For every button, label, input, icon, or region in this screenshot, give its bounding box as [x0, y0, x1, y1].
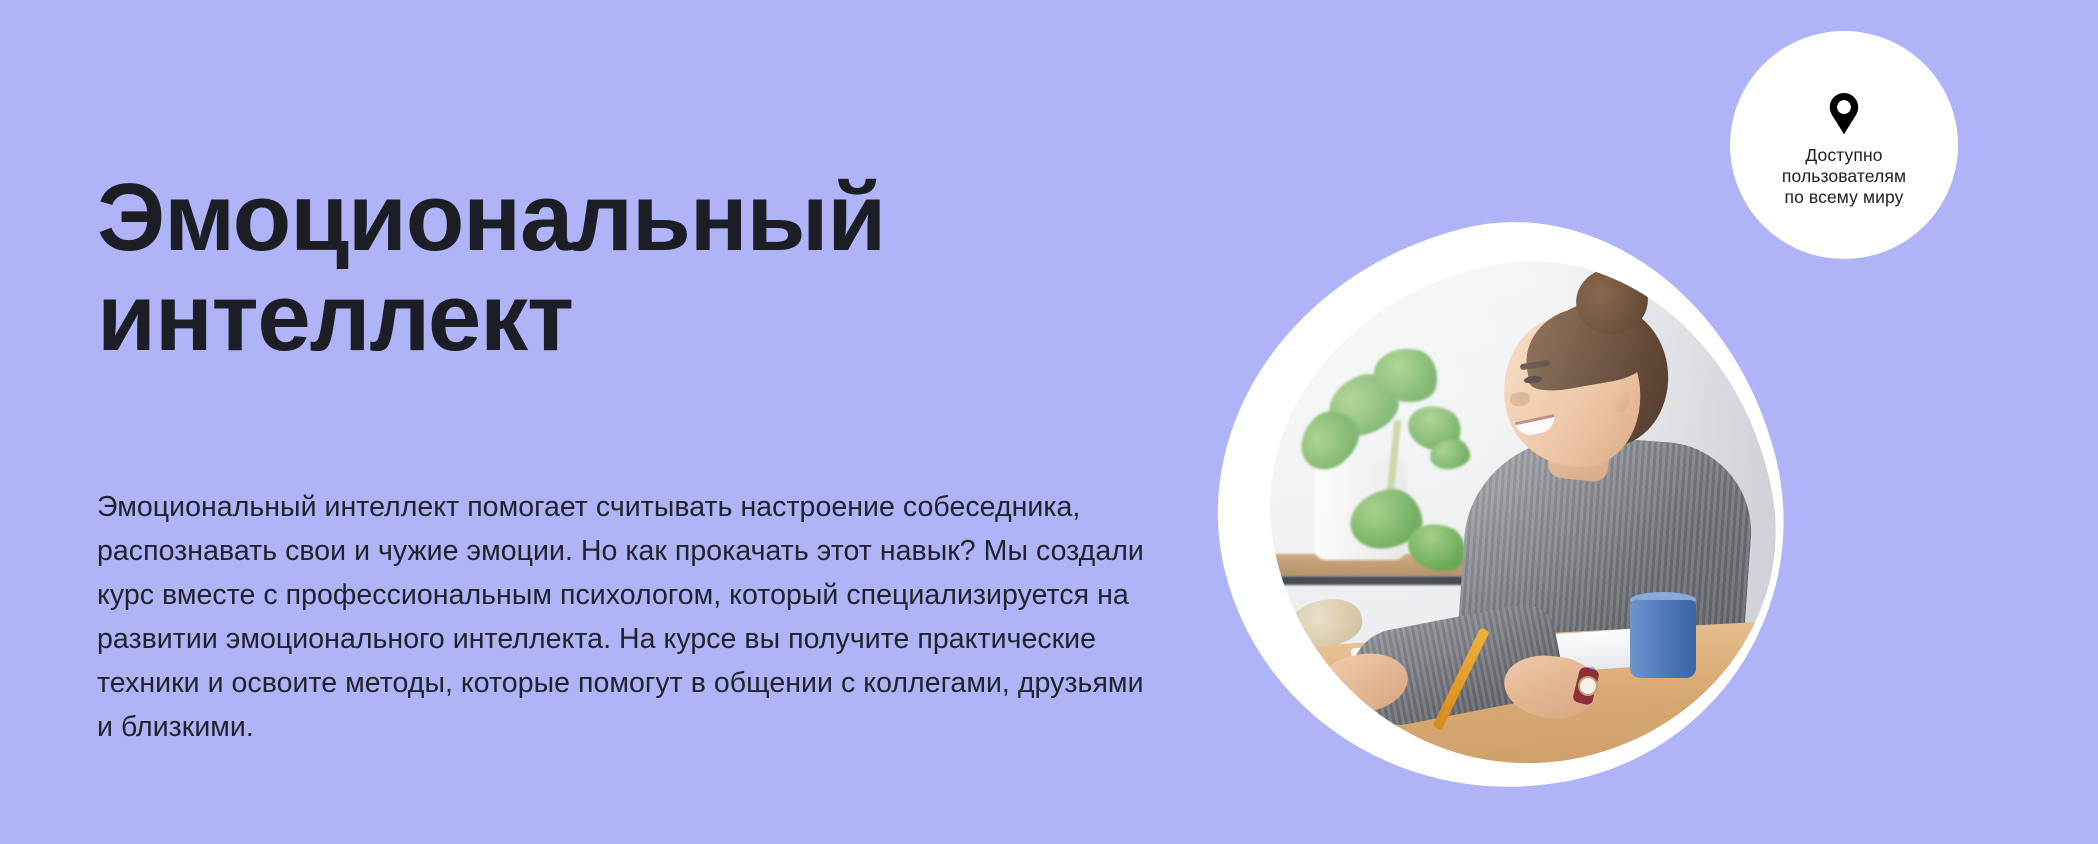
- map-pin-icon: [1829, 93, 1859, 135]
- hero-description: Эмоциональный интеллект помогает считыва…: [97, 485, 1157, 749]
- photo-scene: [1232, 224, 1811, 803]
- scene-shelf-rail: [1252, 576, 1482, 585]
- scene-mug: [1630, 600, 1696, 678]
- page-title-line-2: интеллект: [97, 268, 1197, 368]
- photo-blob-mask: [1232, 224, 1811, 803]
- hero-photo: [1210, 228, 1788, 800]
- page-title: Эмоциональный интеллект: [97, 168, 1197, 368]
- page-title-line-1: Эмоциональный: [97, 168, 1197, 268]
- scene-wristwatch-face: [1578, 676, 1598, 696]
- hero-section: Эмоциональный интеллект Эмоциональный ин…: [0, 0, 2098, 844]
- hero-text-column: Эмоциональный интеллект Эмоциональный ин…: [97, 0, 1257, 844]
- badge-label: Доступно пользователям по всему миру: [1782, 145, 1906, 208]
- scene-person-nose: [1510, 392, 1530, 406]
- worldwide-availability-badge: Доступно пользователям по всему миру: [1730, 31, 1958, 259]
